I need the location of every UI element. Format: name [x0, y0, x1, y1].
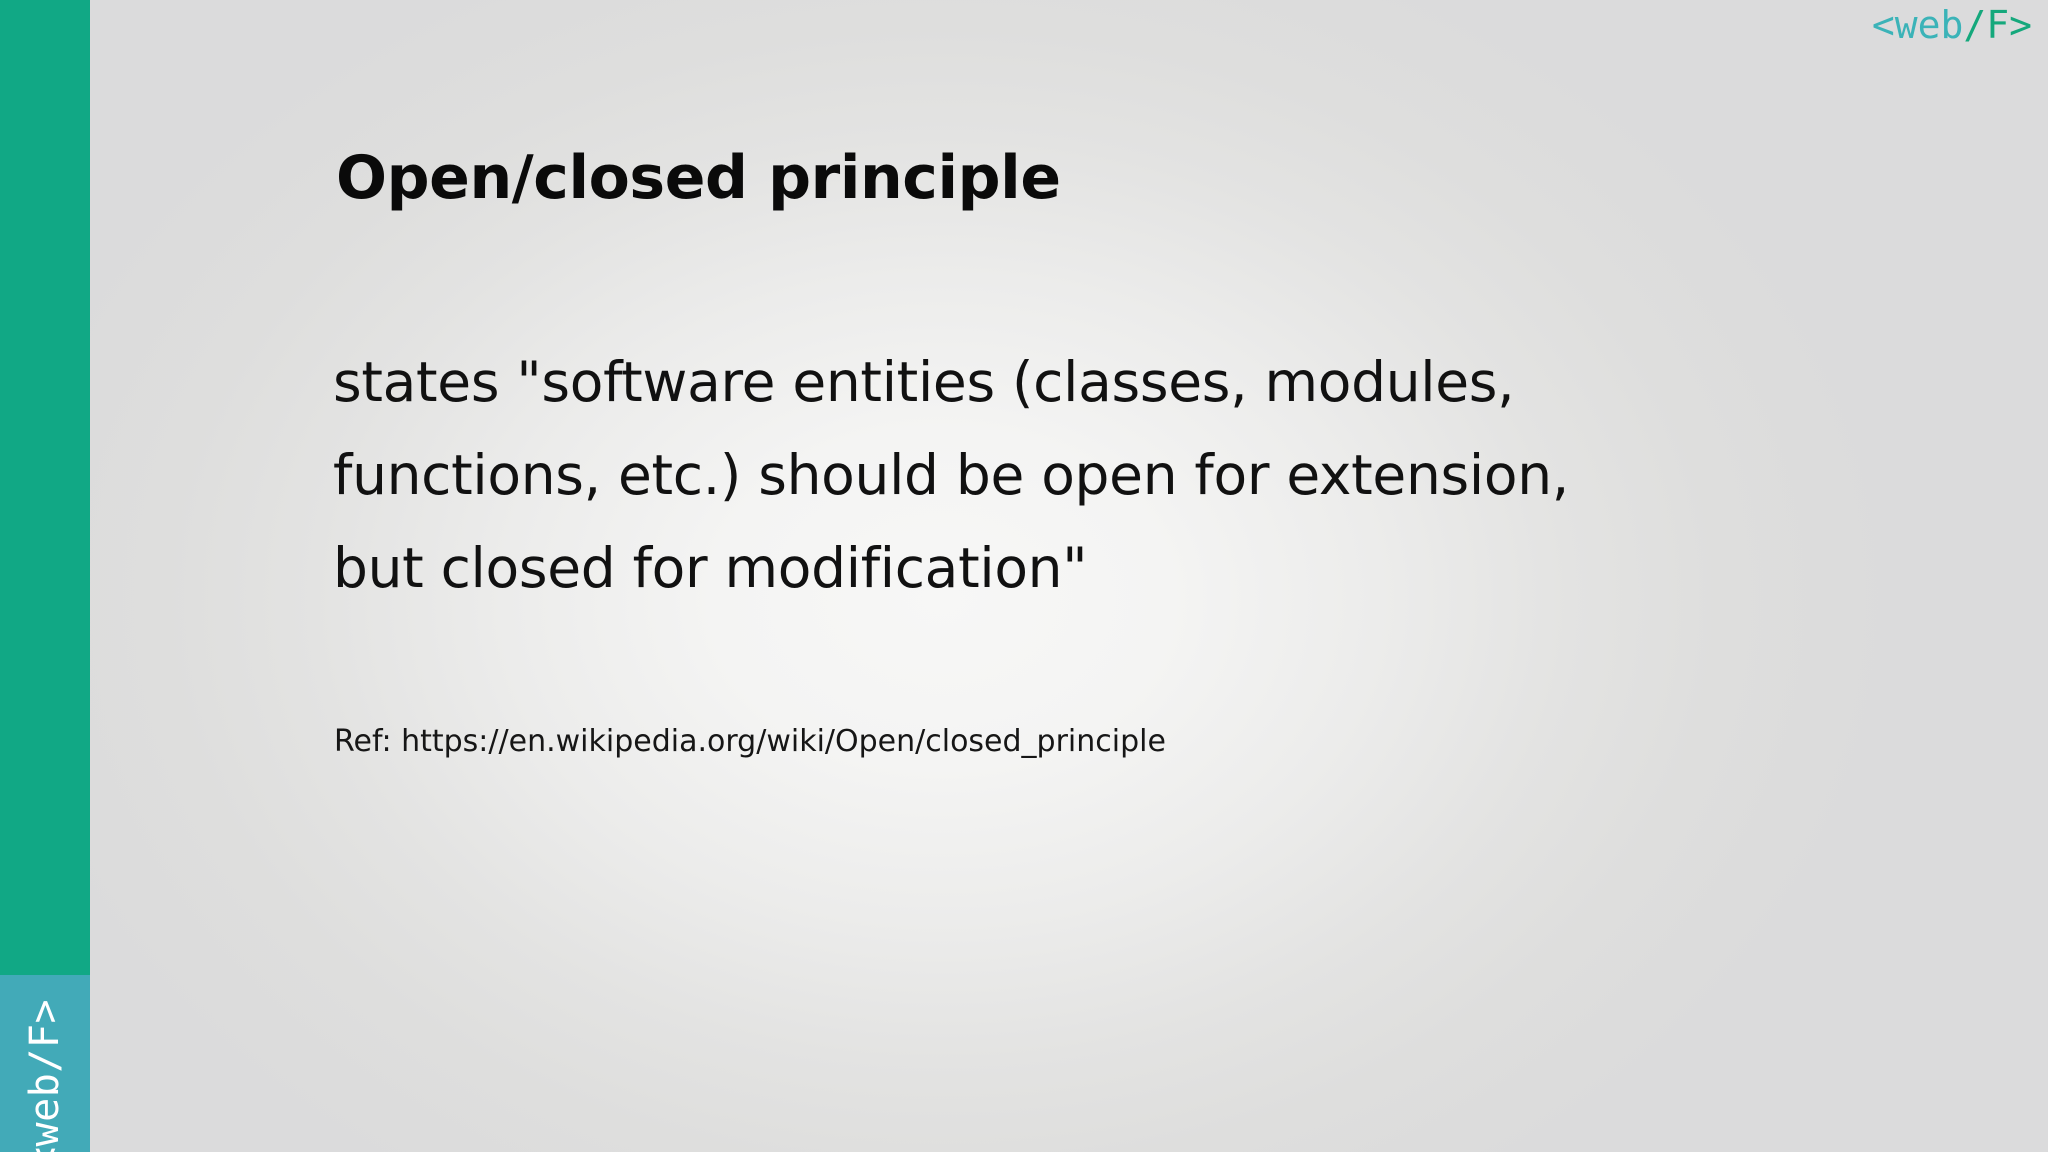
presentation-slide: <web/F> <web/F> Open/closed principle st…: [0, 0, 2048, 1152]
brand-sidebar: <web/F>: [0, 0, 90, 1152]
slide-body: states "software entities (classes, modu…: [333, 336, 1813, 615]
sidebar-logo: <web/F>: [0, 1062, 90, 1108]
slide-title: Open/closed principle: [336, 144, 1061, 214]
body-line: functions, etc.) should be open for exte…: [333, 429, 1813, 522]
sidebar-band-green: [0, 0, 90, 975]
corner-logo-text-accent: /F>: [1963, 3, 2032, 47]
sidebar-logo-text: <web/F>: [25, 999, 65, 1152]
reference-link: Ref: https://en.wikipedia.org/wiki/Open/…: [334, 722, 1166, 761]
body-line: states "software entities (classes, modu…: [333, 336, 1813, 429]
body-line: but closed for modification": [333, 522, 1813, 615]
corner-logo: <web/F>: [1872, 6, 2032, 44]
slide-content: Open/closed principle states "software e…: [333, 0, 1893, 1152]
